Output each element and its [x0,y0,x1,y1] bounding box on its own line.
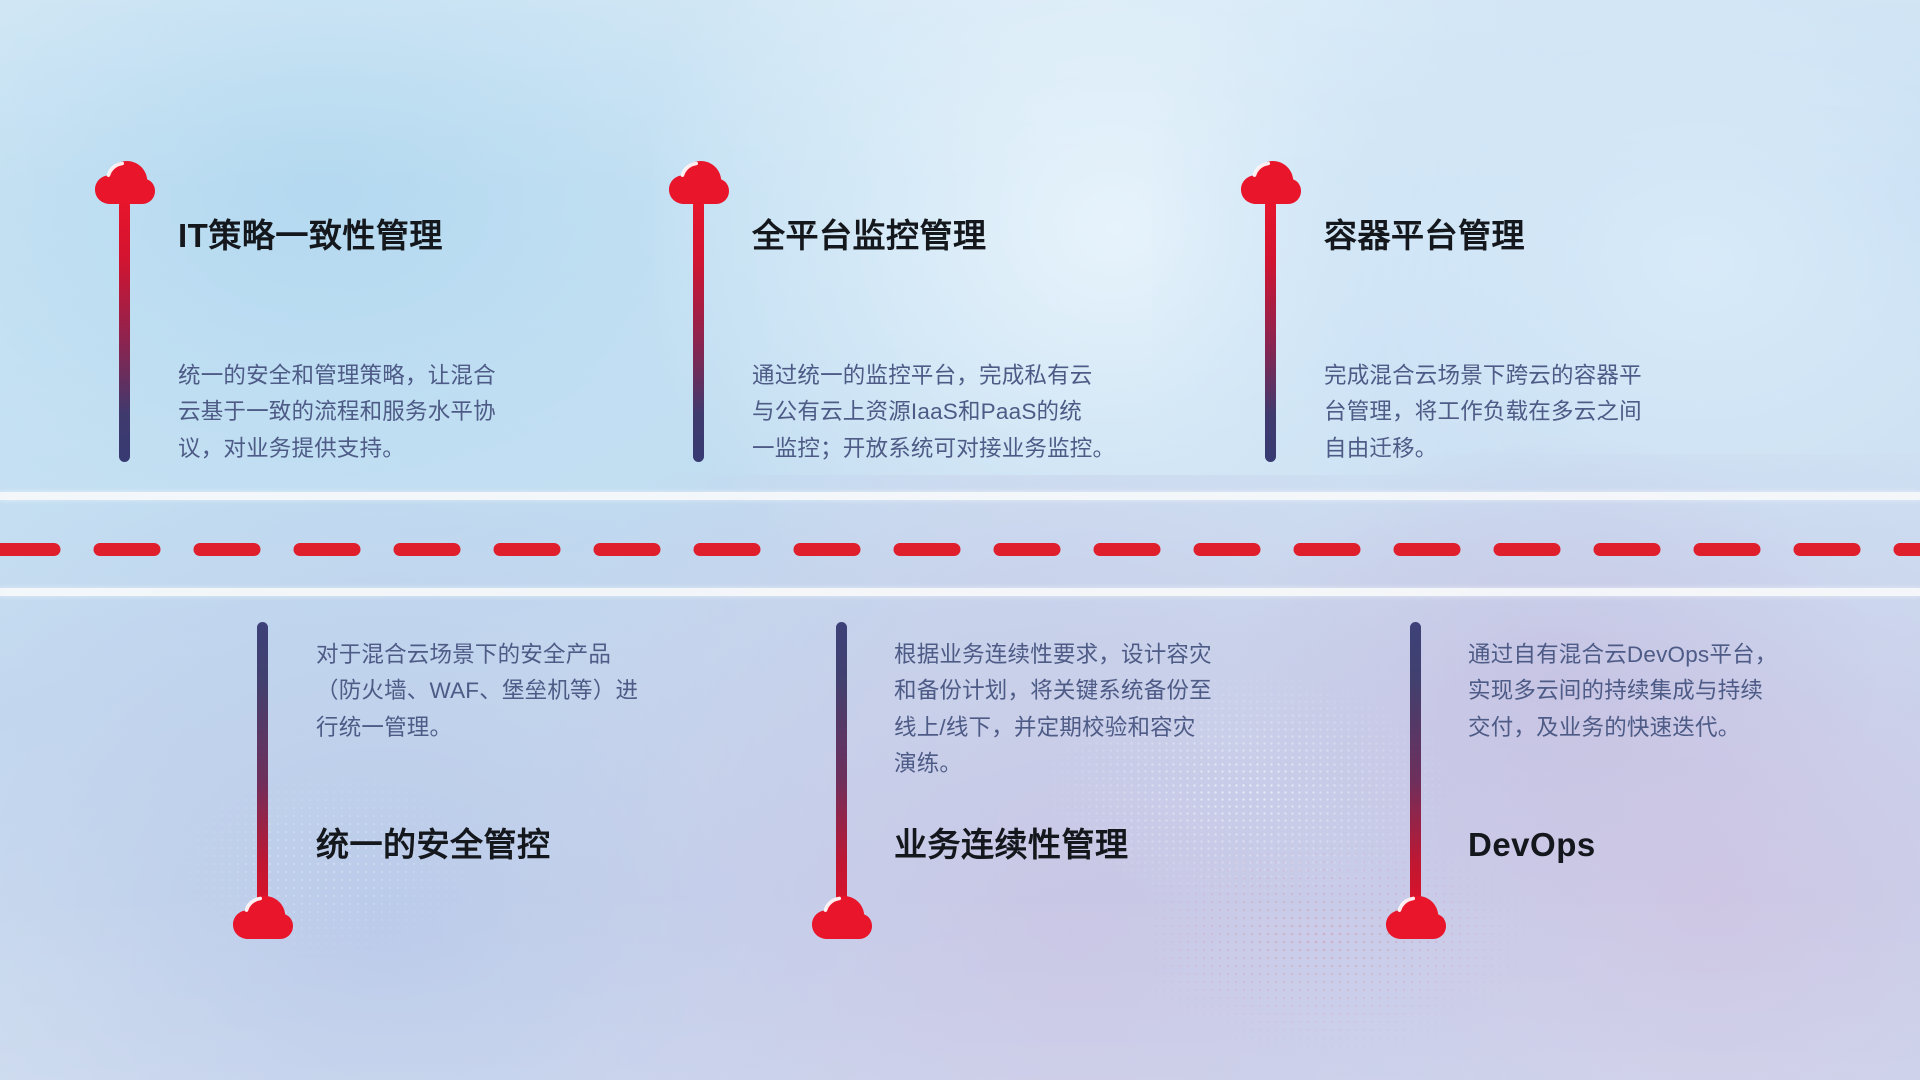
node-body: 统一的安全和管理策略，让混合 云基于一致的流程和服务水平协 议，对业务提供支持。 [178,358,618,467]
cloud-icon [811,895,873,941]
connector-stem [1265,200,1276,462]
node-title: DevOps [1468,825,1596,865]
cloud-icon [232,895,294,941]
node-body: 通过自有混合云DevOps平台， 实现多云间的持续集成与持续 交付，及业务的快速… [1468,637,1898,746]
node-title: 容器平台管理 [1324,216,1525,256]
node-title: 全平台监控管理 [752,216,987,256]
node-title: 业务连续性管理 [894,825,1129,865]
node-body: 通过统一的监控平台，完成私有云 与公有云上资源IaaS和PaaS的统 一监控；开… [752,358,1212,467]
connector-stem [257,622,268,910]
node-body: 对于混合云场景下的安全产品 （防火墙、WAF、堡垒机等）进 行统一管理。 [316,637,756,746]
connector-stem [119,200,130,462]
connector-stem [836,622,847,910]
node-title: 统一的安全管控 [316,825,551,865]
diagram-stage: IT策略一致性管理 统一的安全和管理策略，让混合 云基于一致的流程和服务水平协 … [0,0,1920,1080]
connector-stem [1410,622,1421,910]
node-body: 根据业务连续性要求，设计容灾 和备份计划，将关键系统备份至 线上/线下，并定期校… [894,637,1334,783]
cloud-icon [1385,895,1447,941]
connector-stem [693,200,704,462]
node-body: 完成混合云场景下跨云的容器平 台管理，将工作负载在多云之间 自由迁移。 [1324,358,1774,467]
node-title: IT策略一致性管理 [178,216,443,256]
